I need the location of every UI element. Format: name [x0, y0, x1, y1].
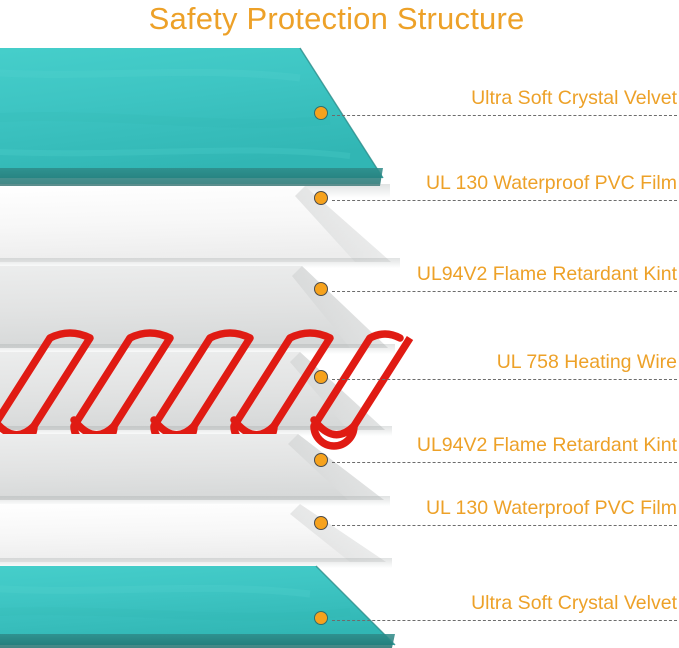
callout-dot-icon — [314, 191, 328, 205]
callout-dot-icon — [314, 611, 328, 625]
callout-connector — [332, 525, 677, 526]
callout-dot-icon — [314, 453, 328, 467]
callout-label: UL94V2 Flame Retardant Kint — [417, 263, 677, 286]
safety-protection-structure-infographic: Safety Protection Structure — [0, 0, 679, 648]
callout-dot-icon — [314, 282, 328, 296]
layer-shape-ultra-soft-crystal-velvet-top — [0, 48, 390, 198]
layer-shape-ul94v2-flame-retardant-knit-top — [0, 266, 395, 354]
callout-connector — [332, 462, 677, 463]
callout-dot-icon — [314, 370, 328, 384]
callout-dot-icon — [314, 106, 328, 120]
callout-connector — [332, 115, 677, 116]
callout-connector — [332, 379, 677, 380]
callout-label: UL 130 Waterproof PVC Film — [426, 172, 677, 195]
layer-shape-ul130-waterproof-pvc-film-bottom — [0, 504, 392, 568]
callout-label: Ultra Soft Crystal Velvet — [471, 87, 677, 110]
callout-label: UL94V2 Flame Retardant Kint — [417, 434, 677, 457]
layer-shape-ultra-soft-crystal-velvet-bottom — [0, 566, 395, 648]
callout-label: Ultra Soft Crystal Velvet — [471, 592, 677, 615]
callout-connector — [332, 200, 677, 201]
callout-label: UL 758 Heating Wire — [497, 351, 677, 374]
callout-label: UL 130 Waterproof PVC Film — [426, 497, 677, 520]
callout-dot-icon — [314, 516, 328, 530]
layer-shape-ul130-waterproof-pvc-film-top — [0, 186, 400, 268]
callout-connector — [332, 620, 677, 621]
callout-connector — [332, 291, 677, 292]
